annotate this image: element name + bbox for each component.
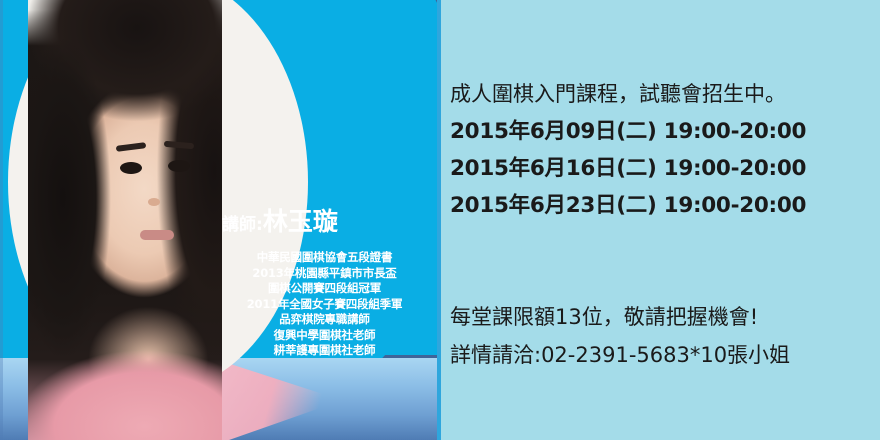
announcement-block: 成人圍棋入門課程，試聽會招生中。 2015年6月09日(二) 19:00-20:… [450, 76, 806, 224]
session-item: 2015年6月23日(二) 19:00-20:00 [450, 187, 806, 224]
credential-item: 復興中學圍棋社老師 [212, 328, 437, 344]
left-panel: 講師:林玉璇 中華民國圍棋協會五段證書 2013年桃園縣平鎮市市長盃 圍棋公開賽… [0, 0, 437, 440]
credential-item: 2011年全國女子賽四段組季軍 [212, 297, 437, 313]
credential-item: 2013年桃園縣平鎮市市長盃 [212, 266, 437, 282]
credential-item: 耕莘護專圍棋社老師 [212, 343, 437, 359]
credential-item: 圍棋公開賽四段組冠軍 [212, 281, 437, 297]
instructor-photo [28, 0, 222, 440]
right-panel: 成人圍棋入門課程，試聽會招生中。 2015年6月09日(二) 19:00-20:… [437, 0, 880, 440]
eye-left [120, 162, 142, 174]
capacity-notice: 每堂課限額13位，敬請把握機會! [450, 298, 790, 336]
credential-item: 品弈棋院專職講師 [212, 312, 437, 328]
session-item: 2015年6月16日(二) 19:00-20:00 [450, 150, 806, 187]
instructor-portrait-image [28, 0, 222, 440]
instructor-credentials-list: 中華民國圍棋協會五段證書 2013年桃園縣平鎮市市長盃 圍棋公開賽四段組冠軍 2… [212, 250, 437, 359]
credential-item: 中華民國圍棋協會五段證書 [212, 250, 437, 266]
instructor-name-text: 林玉璇 [263, 207, 338, 236]
left-edge-divider [0, 0, 3, 440]
session-item: 2015年6月09日(二) 19:00-20:00 [450, 113, 806, 150]
eye-right [168, 160, 190, 172]
contact-notice: 詳情請洽:02-2391-5683*10張小姐 [450, 336, 790, 374]
announcement-headline: 成人圍棋入門課程，試聽會招生中。 [450, 76, 806, 113]
notice-block: 每堂課限額13位，敬請把握機會! 詳情請洽:02-2391-5683*10張小姐 [450, 298, 790, 374]
mouth [140, 230, 174, 240]
instructor-label: 講師: [222, 215, 263, 235]
instructor-name-block: 講師:林玉璇 [222, 209, 422, 234]
nose [148, 198, 160, 206]
panel-divider-line [437, 0, 441, 440]
promo-poster: 講師:林玉璇 中華民國圍棋協會五段證書 2013年桃園縣平鎮市市長盃 圍棋公開賽… [0, 0, 880, 440]
